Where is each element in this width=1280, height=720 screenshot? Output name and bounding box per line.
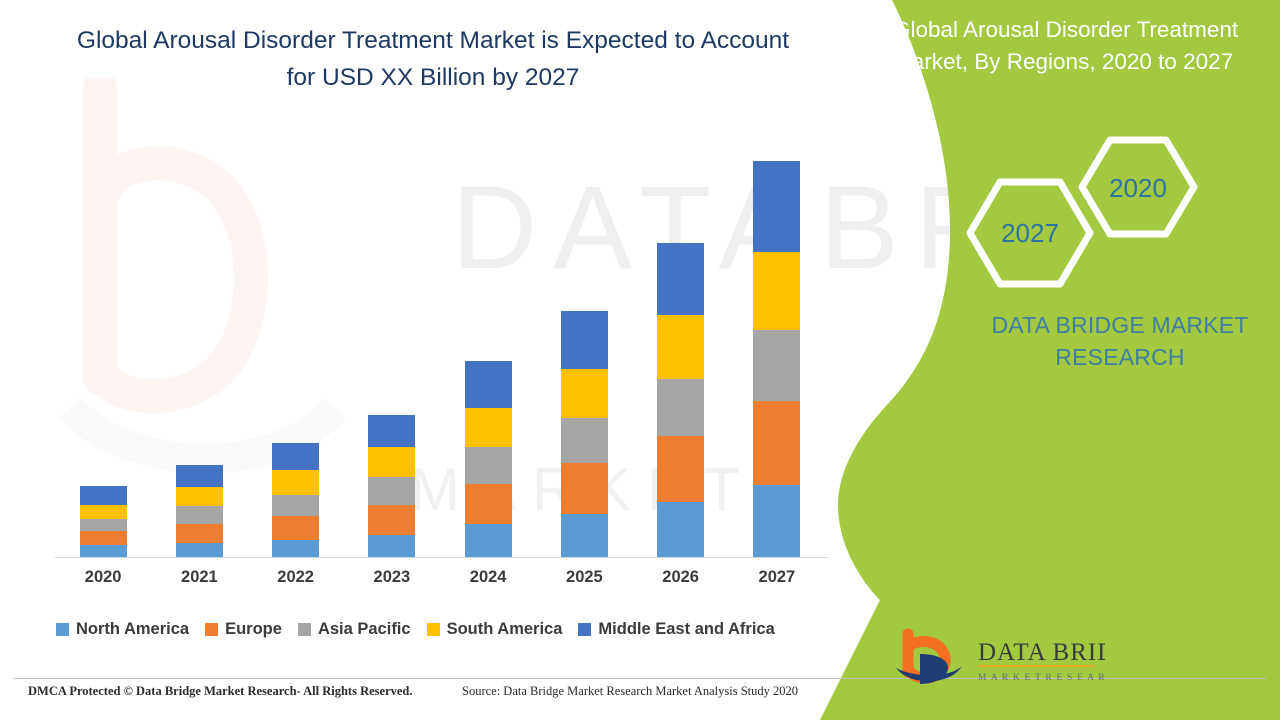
legend-item[interactable]: Europe [205,620,282,639]
legend-item[interactable]: Asia Pacific [298,620,411,639]
bar-segment [465,361,512,407]
bar-segment [176,487,223,506]
legend-item[interactable]: North America [56,620,189,639]
bar-segment [176,543,223,558]
bar-segment [657,502,704,558]
x-axis-labels: 20202021202220232024202520262027 [55,568,828,596]
bar-2026 [657,243,704,558]
bar-segment [561,463,608,515]
bar-segment [753,330,800,401]
legend-swatch-icon [578,623,591,636]
legend-label: South America [447,620,563,639]
logo-title: DATA BRIDGE [978,639,1105,666]
x-label-2022: 2022 [256,568,336,587]
x-label-2021: 2021 [159,568,239,587]
legend-swatch-icon [427,623,440,636]
bar-segment [368,415,415,448]
bar-segment [465,447,512,483]
bar-segment [657,243,704,316]
bar-segment [561,311,608,368]
legend-swatch-icon [205,623,218,636]
bar-segment [753,252,800,331]
legend-label: Asia Pacific [318,620,411,639]
bar-segment [80,505,127,520]
bar-2022 [272,443,319,558]
bar-2020 [80,486,127,558]
legend-item[interactable]: South America [427,620,563,639]
bar-segment [465,524,512,558]
bar-2025 [561,311,608,558]
x-label-2025: 2025 [544,568,624,587]
bar-segment [272,495,319,517]
logo-subtitle: M A R K E T R E S E A R C H [978,673,1105,683]
x-axis-line [55,557,828,558]
bar-segment [561,369,608,419]
bar-segment [368,447,415,477]
bar-2023 [368,415,415,558]
bar-segment [753,401,800,485]
infographic-canvas: DATA BRIDGE MARKET RESEARCH Global Arous… [0,0,1280,720]
brand-line-1: DATA BRIDGE MARKET [991,312,1248,338]
x-label-2027: 2027 [737,568,817,587]
bar-segment [465,484,512,525]
bar-segment [657,379,704,435]
legend-label: Middle East and Africa [598,620,774,639]
bar-segment [176,506,223,523]
bar-segment [753,485,800,558]
brand-name: DATA BRIDGE MARKET RESEARCH [975,309,1265,373]
hexagon-2027-label: 2027 [1001,218,1059,248]
brand-line-2: RESEARCH [1055,344,1184,370]
bar-segment [561,514,608,558]
bar-segment [368,535,415,558]
bar-2027 [753,161,800,558]
bar-segment [80,531,127,546]
bar-segment [368,477,415,504]
copyright-text: DMCA Protected © Data Bridge Market Rese… [28,684,413,699]
x-label-2020: 2020 [63,568,143,587]
data-bridge-logo: DATA BRIDGE M A R K E T R E S E A R C H [890,628,1105,690]
bar-segment [272,443,319,470]
bar-segment [368,505,415,536]
panel-title: Global Arousal Disorder Treatment Market… [893,14,1271,78]
bar-segment [272,540,319,558]
bar-segment [657,436,704,502]
chart-legend: North AmericaEuropeAsia PacificSouth Ame… [56,616,846,642]
legend-label: North America [76,620,189,639]
bar-segment [80,519,127,531]
page-title: Global Arousal Disorder Treatment Market… [60,22,806,96]
x-label-2024: 2024 [448,568,528,587]
stacked-bar-chart [55,150,825,558]
hexagon-group: 2027 2020 [960,130,1210,295]
legend-label: Europe [225,620,282,639]
bar-segment [176,524,223,543]
bar-segment [80,486,127,504]
source-text: Source: Data Bridge Market Research Mark… [462,684,798,699]
bar-segment [561,418,608,462]
x-label-2026: 2026 [641,568,721,587]
bar-segment [657,315,704,379]
bar-segment [272,470,319,494]
bar-segment [176,465,223,488]
bar-segment [465,408,512,448]
legend-swatch-icon [56,623,69,636]
bar-segment [753,161,800,252]
bar-segment [272,516,319,540]
bar-2021 [176,465,223,558]
bar-2024 [465,361,512,558]
legend-item[interactable]: Middle East and Africa [578,620,774,639]
x-label-2023: 2023 [352,568,432,587]
legend-swatch-icon [298,623,311,636]
hexagon-2020-label: 2020 [1109,173,1167,203]
